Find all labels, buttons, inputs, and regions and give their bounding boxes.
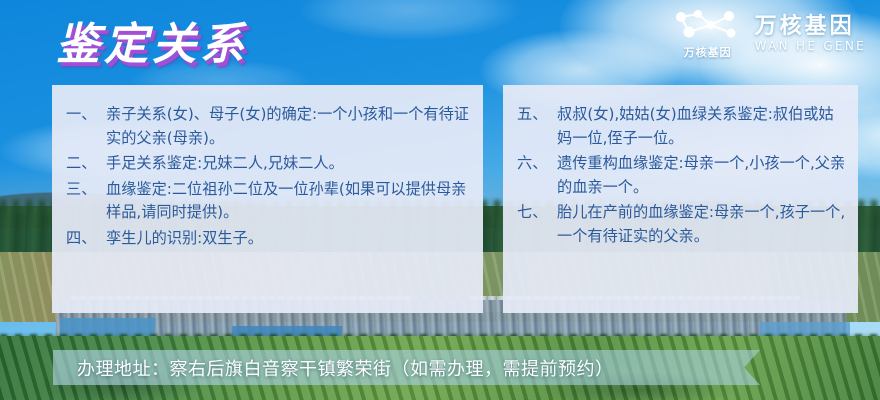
list-item-number: 六、 [517,152,557,176]
list-item-text: 胎儿在产前的血缘鉴定:母亲一个,孩子一个,一个有待证实的父亲。 [557,201,846,248]
list-item: 六、 遗传重构血缘鉴定:母亲一个,小孩一个,父亲的血亲一个。 [517,152,846,199]
list-item-number: 一、 [66,103,106,127]
list-item-number: 二、 [66,152,106,176]
list-item-number: 三、 [66,178,106,202]
brand-name-en: WAN HE GENE [755,40,866,53]
list-item-text: 遗传重构血缘鉴定:母亲一个,小孩一个,父亲的血亲一个。 [557,152,846,199]
logo-mark: 万核基因 [671,8,745,60]
brand-name-cn: 万核基因 [755,15,866,38]
info-panel-right: 五、 叔叔(女),姑姑(女)血绿关系鉴定:叔伯或姑妈一位,侄子一位。 六、 遗传… [503,85,858,313]
brand-wordmark: 万核基因 WAN HE GENE [755,15,866,53]
list-item-text: 叔叔(女),姑姑(女)血绿关系鉴定:叔伯或姑妈一位,侄子一位。 [557,103,846,150]
list-item-text: 手足关系鉴定:兄妹二人,兄妹二人。 [106,152,471,176]
dna-molecule-icon [671,8,745,42]
list-item-number: 五、 [517,103,557,127]
list-item-text: 亲子关系(女)、母子(女)的确定:一个小孩和一个有待证实的父亲(母亲)。 [106,103,471,150]
address-banner: 办理地址：察右后旗白音察干镇繁荣街（如需办理，需提前预约） [53,350,760,385]
list-item-text: 血缘鉴定:二位祖孙二位及一位孙辈(如果可以提供母亲样品,请同时提供)。 [106,178,471,225]
list-item: 七、 胎儿在产前的血缘鉴定:母亲一个,孩子一个,一个有待证实的父亲。 [517,201,846,248]
list-item-text: 孪生儿的识别:双生子。 [106,227,471,251]
list-item: 二、 手足关系鉴定:兄妹二人,兄妹二人。 [66,152,471,176]
list-item: 五、 叔叔(女),姑姑(女)血绿关系鉴定:叔伯或姑妈一位,侄子一位。 [517,103,846,150]
list-item-number: 四、 [66,227,106,251]
page-title: 鉴定关系 [56,8,248,72]
logo-mark-label: 万核基因 [684,44,732,60]
address-text: 办理地址：察右后旗白音察干镇繁荣街（如需办理，需提前预约） [53,355,614,381]
list-item: 一、 亲子关系(女)、母子(女)的确定:一个小孩和一个有待证实的父亲(母亲)。 [66,103,471,150]
promo-banner: 鉴定关系 万核基因 [0,0,880,400]
brand-logo: 万核基因 万核基因 WAN HE GENE [671,8,866,60]
list-item-number: 七、 [517,201,557,225]
list-item: 四、 孪生儿的识别:双生子。 [66,227,471,251]
list-item: 三、 血缘鉴定:二位祖孙二位及一位孙辈(如果可以提供母亲样品,请同时提供)。 [66,178,471,225]
info-panel-left: 一、 亲子关系(女)、母子(女)的确定:一个小孩和一个有待证实的父亲(母亲)。 … [52,85,483,313]
